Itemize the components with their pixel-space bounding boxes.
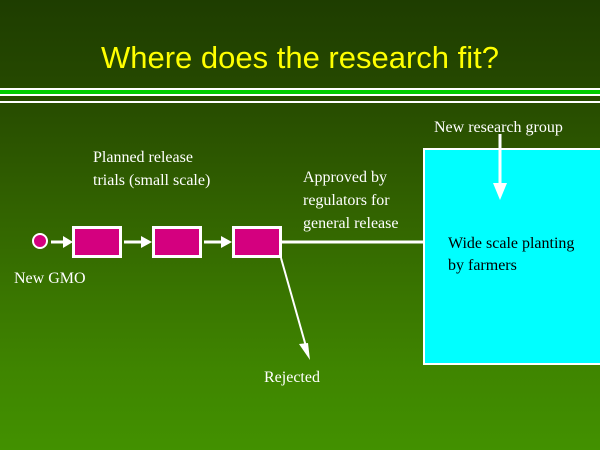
new-gmo-label: New GMO (14, 267, 104, 290)
box1-to-box2-arrow (124, 236, 152, 248)
process-box-1 (72, 226, 122, 258)
box2-to-box3-arrow (204, 236, 232, 248)
divider-rule-middle (0, 94, 600, 96)
rejected-label: Rejected (264, 366, 384, 389)
approved-regulators-label: Approved by regulators for general relea… (303, 166, 428, 235)
planned-release-label: Planned release trials (small scale) (93, 146, 228, 192)
divider-rule-bottom (0, 101, 600, 103)
process-box-3 (232, 226, 282, 258)
new-gmo-start-node (32, 233, 48, 249)
process-box-2 (152, 226, 202, 258)
wide-scale-planting-label: Wide scale planting by farmers (448, 233, 600, 277)
box3-to-rejected-arrow (281, 258, 310, 360)
page-title: Where does the research fit? (0, 40, 600, 76)
start-to-box1-arrow (51, 236, 73, 248)
slide-canvas: Where does the research fit? Wide scale … (0, 0, 600, 450)
new-research-group-label: New research group (434, 116, 600, 139)
